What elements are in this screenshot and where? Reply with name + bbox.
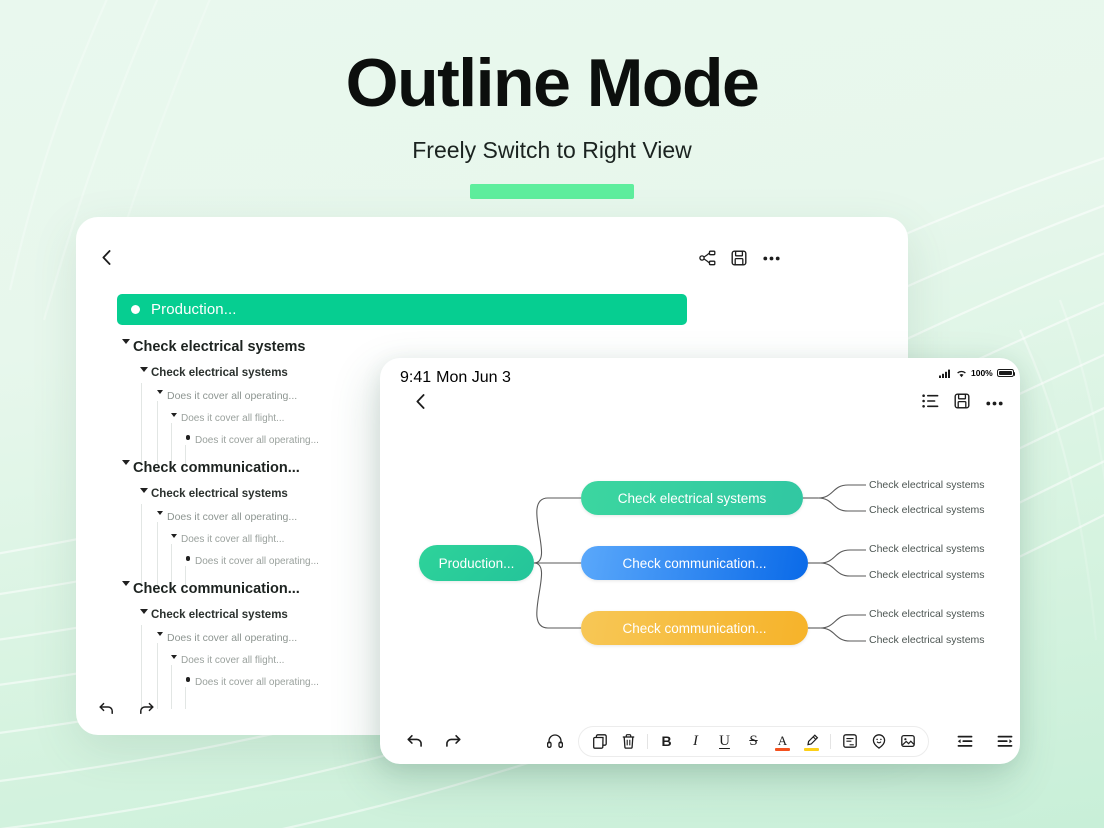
outline-item-label: Check electrical systems [151,609,288,621]
mindmap-branch-node[interactable]: Check communication... [581,611,808,645]
indent-increase-icon [957,735,973,748]
right-battery-percent: 100% [971,368,993,378]
outline-item-label: Does it cover all operating... [195,677,319,688]
caret-down-icon[interactable] [119,460,133,465]
outline-item-label: Does it cover all operating... [167,632,297,644]
bullet-icon [181,677,195,682]
sticker-icon [872,734,886,749]
indent-increase-button[interactable] [952,728,978,754]
right-status-date: Mon Jun 3 [436,369,511,387]
mindmap-root-label: Production... [439,556,515,571]
image-button[interactable] [893,727,922,756]
note-icon [843,734,857,748]
outline-item-label: Does it cover all flight... [181,655,284,666]
battery-icon [997,369,1014,378]
highlight-color-swatch [804,748,819,751]
undo-icon [99,702,114,715]
underline-button[interactable]: U [710,727,739,756]
caret-down-icon[interactable] [153,511,167,515]
mindmap-branch-label: Check electrical systems [618,491,767,506]
bullet-icon [181,556,195,561]
bold-button[interactable]: B [652,727,681,756]
left-bottom-toolbar [95,697,157,719]
outline-root-label: Production... [151,301,237,318]
outline-section-title: Check communication... [133,460,300,476]
outline-item-label: Does it cover all operating... [195,435,319,446]
copy-button[interactable] [585,727,614,756]
left-back-button[interactable] [96,247,116,267]
sticker-button[interactable] [864,727,893,756]
bullet-icon [181,435,195,440]
strikethrough-icon: S [749,733,757,750]
mindmap-branch-node[interactable]: Check electrical systems [581,481,803,515]
strikethrough-button[interactable]: S [739,727,768,756]
outline-item-label: Does it cover all operating... [167,511,297,523]
save-icon [954,393,970,409]
format-toolbar: B I U S A [578,726,929,757]
italic-icon: I [693,733,698,750]
caret-down-icon[interactable] [167,655,181,659]
page-title: Outline Mode [0,48,1104,119]
page-subtitle: Freely Switch to Right View [0,137,1104,164]
right-statusbar-right: 100% [939,368,1014,378]
text-color-swatch [775,748,790,751]
caret-down-icon[interactable] [167,534,181,538]
caret-down-icon[interactable] [153,390,167,394]
caret-down-icon[interactable] [167,413,181,417]
accent-underline [470,184,634,199]
right-bottom-toolbar: B I U S A [380,718,1020,764]
caret-down-icon[interactable] [119,339,133,344]
text-color-button[interactable]: A [768,727,797,756]
outline-item-label: Does it cover all operating... [167,390,297,402]
mindmap-share-icon [699,250,716,266]
more-icon [986,401,1003,406]
italic-button[interactable]: I [681,727,710,756]
left-redo-button[interactable] [135,697,157,719]
right-status-time: 9:41 [400,369,431,387]
outline-item-label: Does it cover all flight... [181,534,284,545]
chevron-left-icon [416,394,425,409]
outline-item-label: Does it cover all flight... [181,413,284,424]
outline-list-icon [922,394,939,408]
right-more-button[interactable] [984,393,1004,413]
outline-item-label: Check electrical systems [151,488,288,500]
right-back-button[interactable] [410,391,430,411]
left-undo-button[interactable] [95,697,117,719]
outline-item-label: Check electrical systems [151,367,288,379]
text-color-icon: A [778,733,787,749]
chevron-left-icon [102,250,111,265]
delete-button[interactable] [614,727,643,756]
mindmap-leaf-node[interactable]: Check electrical systems [869,479,985,491]
copy-icon [593,734,607,749]
toolbar-separator [830,734,831,749]
redo-icon [445,734,461,748]
note-button[interactable] [835,727,864,756]
mindmap-branch-node[interactable]: Check communication... [581,546,808,580]
indent-decrease-button[interactable] [992,728,1018,754]
redo-icon [139,702,154,715]
outline-root-row[interactable]: Production... [117,294,687,325]
mindmap-leaf-node[interactable]: Check electrical systems [869,543,985,555]
right-statusbar-left: 9:41 Mon Jun 3 [400,369,511,387]
right-save-button[interactable] [952,391,972,411]
caret-down-icon[interactable] [137,609,151,614]
right-undo-button[interactable] [402,728,428,754]
root-bullet-icon [131,305,140,314]
undo-icon [407,734,423,748]
outline-section-title: Check electrical systems [133,339,306,355]
underline-icon: U [719,733,730,750]
list-item[interactable]: Check electrical systems [117,339,692,355]
toolbar-separator [647,734,648,749]
right-outline-view-button[interactable] [920,391,940,411]
caret-down-icon[interactable] [119,581,133,586]
save-icon [731,250,747,266]
audio-button[interactable] [542,728,568,754]
mindmap-leaf-node[interactable]: Check electrical systems [869,634,985,646]
mindmap-leaf-node[interactable]: Check electrical systems [869,608,985,620]
bold-icon: B [661,733,671,749]
right-redo-button[interactable] [440,728,466,754]
mindmap-root-node[interactable]: Production... [419,545,534,581]
caret-down-icon[interactable] [137,367,151,372]
wifi-icon [956,369,967,378]
highlighter-icon [805,734,819,748]
mindmap-branch-label: Check communication... [622,621,766,636]
left-more-button[interactable] [761,248,781,268]
headphones-icon [547,734,563,748]
more-icon [763,256,780,261]
mindmap-leaf-node[interactable]: Check electrical systems [869,504,985,516]
outline-section-title: Check communication... [133,581,300,597]
outline-item-label: Does it cover all operating... [195,556,319,567]
left-save-button[interactable] [729,248,749,268]
cellular-signal-icon [939,369,952,378]
image-icon [901,734,915,748]
mindmap-leaf-node[interactable]: Check electrical systems [869,569,985,581]
caret-down-icon[interactable] [153,632,167,636]
mindmap-branch-label: Check communication... [622,556,766,571]
indent-decrease-icon [997,735,1013,748]
caret-down-icon[interactable] [137,488,151,493]
highlighter-button[interactable] [797,727,826,756]
left-mindmap-share-button[interactable] [697,248,717,268]
trash-icon [622,734,635,749]
page-header: Outline Mode Freely Switch to Right View [0,0,1104,199]
